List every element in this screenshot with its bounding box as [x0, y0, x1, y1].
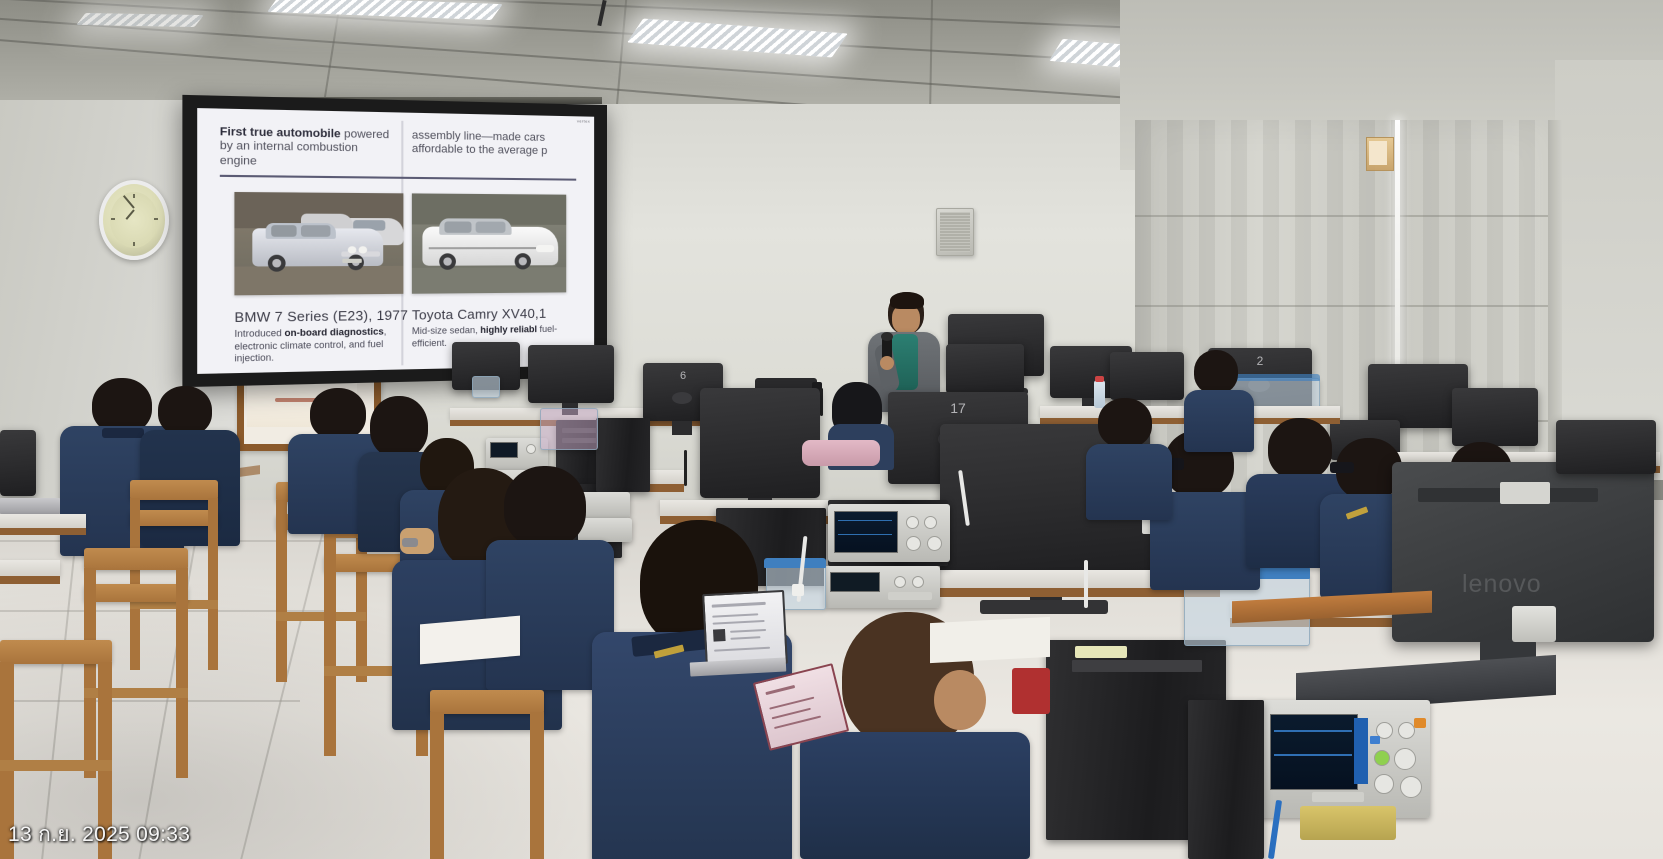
- uniform-collar: [102, 428, 144, 438]
- tower-drive-bay: [1072, 660, 1202, 672]
- student-head: [158, 386, 212, 436]
- student-head: [504, 466, 586, 548]
- student-right-4: [1184, 350, 1254, 450]
- wall-notice-inner: [1369, 141, 1387, 165]
- monitor: [1452, 388, 1538, 446]
- wall-speaker: [936, 208, 974, 256]
- camry-desc-bold: highly reliabl: [480, 324, 537, 335]
- pink-bag: [802, 440, 880, 466]
- slide-left-header-bold: First true automobile: [220, 126, 341, 141]
- slide-right-header-line2: affordable to the average p: [412, 143, 594, 159]
- slide-photo-camry: [412, 193, 566, 293]
- slide-card-title-camry: Toyota Camry XV40,1: [412, 305, 591, 323]
- paper-sheet: [930, 617, 1050, 663]
- bmw-desc-bold: on-board diagnostics: [285, 326, 384, 338]
- signal-generator: [824, 566, 940, 608]
- laptop-keyboard: [0, 498, 60, 514]
- ceiling-light-fixture: [76, 13, 204, 27]
- desk-edge: [0, 576, 60, 584]
- projection-screen: vertex First true automobile powered by …: [182, 95, 607, 387]
- oscilloscope: [828, 504, 950, 562]
- desk-front-left-2: [0, 560, 60, 576]
- desk-edge: [0, 528, 86, 535]
- student-head: [1098, 398, 1152, 448]
- monitor-logo-badge: [672, 392, 692, 404]
- far-right-wall: [1555, 60, 1663, 480]
- slide-photo-bmw: [234, 192, 403, 295]
- slide-card-title-bmw: BMW 7 Series (E23), 1977: [234, 307, 408, 325]
- slide-right-header: assembly line—made cars affordable to th…: [412, 129, 594, 159]
- wall-clock: [99, 180, 169, 260]
- monitor-number-label: 17: [888, 400, 1028, 416]
- pc-tower-foreground: [1188, 700, 1264, 859]
- presentation-slide: vertex First true automobile powered by …: [197, 108, 594, 374]
- bottle-cap: [1095, 376, 1104, 382]
- cable: [684, 450, 687, 486]
- monitor: [528, 345, 614, 403]
- ceiling-light-fixture: [627, 18, 848, 57]
- student-ear-hand: [934, 670, 986, 730]
- photo-timestamp: 13 ก.ย. 2025 09:33: [8, 818, 190, 851]
- lab-instrument: [1500, 482, 1550, 504]
- instructor-hair: [890, 292, 924, 309]
- slide-card-desc-bmw: Introduced on-board diagnostics, electro…: [234, 326, 403, 366]
- classroom-photo: vertex First true automobile powered by …: [0, 0, 1663, 859]
- microphone-head: [881, 332, 893, 341]
- bmw-desc-pre: Introduced: [234, 328, 284, 339]
- storage-bin: [472, 376, 500, 398]
- student-right-5: [1086, 398, 1172, 518]
- monitor: [700, 388, 820, 498]
- monitor-stand: [672, 421, 692, 435]
- student-uniform: [1086, 444, 1172, 520]
- slide-left-header: First true automobile powered by an inte…: [220, 126, 395, 171]
- slide-watermark: vertex: [577, 118, 590, 123]
- monitor-brand-label: lenovo: [1462, 570, 1612, 599]
- cable: [1084, 560, 1088, 608]
- monitor: [946, 344, 1024, 394]
- monitor-number-label: 6: [643, 370, 723, 382]
- monitor: [1110, 352, 1184, 400]
- cable-connector: [792, 584, 804, 596]
- camry-desc-pre: Mid-size sedan,: [412, 325, 480, 336]
- clock-face: [110, 192, 158, 248]
- ceiling-light-fixture: [267, 0, 503, 20]
- eyeglasses: [1330, 462, 1354, 473]
- monitor: [1556, 420, 1656, 474]
- student-seated-hijab: [828, 382, 908, 472]
- lab-instrument: [1512, 606, 1556, 642]
- speaker-grill: [940, 212, 970, 252]
- monitor: [0, 430, 36, 496]
- student-head: [1194, 350, 1238, 394]
- laptop-display[interactable]: [702, 590, 788, 668]
- sticky-note: [1075, 646, 1127, 658]
- student-uniform: [1184, 390, 1254, 452]
- storage-bin: [540, 408, 598, 450]
- student-uniform: [800, 732, 1030, 859]
- instructor-hand: [880, 356, 894, 370]
- desk-front-left: [0, 514, 86, 528]
- power-supply: [1300, 806, 1396, 840]
- chair: [430, 690, 550, 859]
- oscilloscope-foreground[interactable]: [1258, 700, 1430, 818]
- slide-horizontal-rule: [220, 175, 576, 181]
